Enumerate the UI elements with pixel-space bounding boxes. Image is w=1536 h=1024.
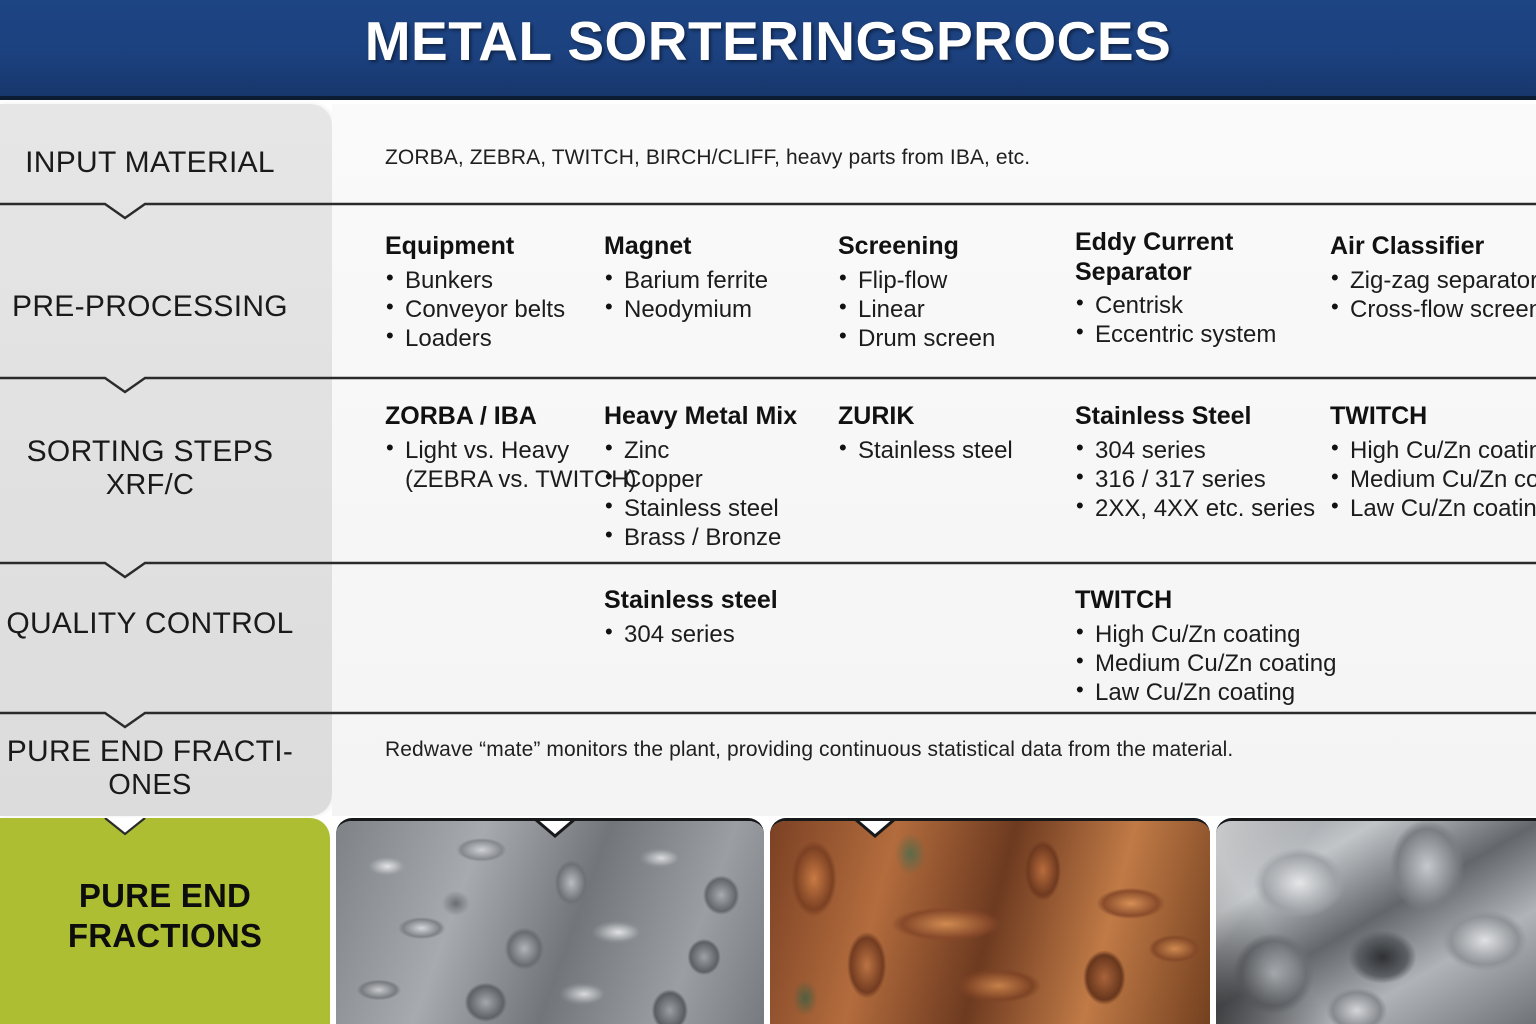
list-item: 304 series: [1075, 436, 1325, 465]
group-bullets: High Cu/Zn coating Medium Cu/Zn coating …: [1330, 436, 1536, 524]
group-title: Eddy Current Separator: [1075, 228, 1275, 287]
list-item: Drum screen: [838, 324, 1070, 353]
list-item: Cross-flow screen: [1330, 295, 1536, 324]
list-item: Neodymium: [604, 295, 832, 324]
label-line-2: FRACTIONS: [68, 917, 262, 954]
group-bullets: High Cu/Zn coating Medium Cu/Zn coating …: [1075, 620, 1355, 708]
group-bullets: Barium ferrite Neodymium: [604, 266, 832, 325]
list-item: High Cu/Zn coating: [1075, 620, 1355, 649]
row-pre-processing: Equipment Bunkers Conveyor belts Loaders…: [332, 232, 1536, 378]
list-item: 304 series: [604, 620, 844, 649]
list-item: Light vs. Heavy: [385, 436, 610, 465]
input-material-text: ZORBA, ZEBRA, TWITCH, BIRCH/CLIFF, heavy…: [385, 146, 1030, 170]
row-quality-control: Stainless steel 304 series TWITCH High C…: [332, 586, 1536, 714]
list-item: Law Cu/Zn coating: [1075, 678, 1355, 707]
list-item: Brass / Bronze: [604, 523, 834, 552]
group-bullets: 304 series 316 / 317 series 2XX, 4XX etc…: [1075, 436, 1325, 524]
list-item: Linear: [838, 295, 1070, 324]
group-air-classifier: Air Classifier Zig-zag separator Cross-f…: [1330, 232, 1536, 324]
stage-label-sorting-steps: SORTING STEPS XRF/C: [0, 435, 300, 502]
group-zorba-iba: ZORBA / IBA Light vs. Heavy (ZEBRA vs. T…: [385, 402, 610, 494]
group-eddy-current-separator: Eddy Current Separator Centrisk Eccentri…: [1075, 228, 1315, 350]
list-item: Bunkers: [385, 266, 600, 295]
group-title: Air Classifier: [1330, 232, 1536, 262]
list-item: Stainless steel: [838, 436, 1070, 465]
group-bullets: Light vs. Heavy (ZEBRA vs. TWITCH): [385, 436, 610, 495]
stage-label-input-material: INPUT MATERIAL: [0, 146, 300, 180]
group-heavy-metal-mix: Heavy Metal Mix Zinc Copper Stainless st…: [604, 402, 834, 553]
stage-label-text: PURE END FRACTI-: [7, 735, 293, 768]
group-title: Screening: [838, 232, 1070, 262]
list-item: Centrisk: [1075, 291, 1315, 320]
group-title: TWITCH: [1075, 586, 1355, 616]
group-title: Stainless steel: [604, 586, 844, 616]
group-title: ZORBA / IBA: [385, 402, 610, 432]
list-item: 2XX, 4XX etc. series: [1075, 494, 1325, 523]
header-bar: METAL SORTERINGSPROCES: [0, 0, 1536, 100]
group-bullets: 304 series: [604, 620, 844, 649]
redwave-mate-text: Redwave “mate” monitors the plant, provi…: [385, 738, 1233, 762]
group-qc-stainless-steel: Stainless steel 304 series: [604, 586, 844, 649]
list-item: Zig-zag separator: [1330, 266, 1536, 295]
stage-label-text: PRE-PROCESSING: [12, 290, 288, 323]
group-bullets: Zig-zag separator Cross-flow screen: [1330, 266, 1536, 325]
stage-label-text: INPUT MATERIAL: [25, 146, 275, 179]
photo-copper-pipe-scrap: [770, 818, 1210, 1024]
list-item: Copper: [604, 465, 834, 494]
list-item: Loaders: [385, 324, 600, 353]
photo-texture: [1216, 821, 1536, 1024]
list-item: Conveyor belts: [385, 295, 600, 324]
list-item: Medium Cu/Zn coating: [1075, 649, 1355, 678]
row-sorting-steps: ZORBA / IBA Light vs. Heavy (ZEBRA vs. T…: [332, 402, 1536, 562]
stage-label-pure-end-fractiones: PURE END FRACTI- ONES: [0, 735, 300, 802]
group-zurik: ZURIK Stainless steel: [838, 402, 1070, 465]
photo-shredded-grey-metal-scrap: [336, 818, 764, 1024]
group-equipment: Equipment Bunkers Conveyor belts Loaders: [385, 232, 600, 353]
list-item: Barium ferrite: [604, 266, 832, 295]
pure-end-fractions-label: PURE END FRACTIONS: [0, 876, 330, 955]
group-title: ZURIK: [838, 402, 1070, 432]
group-title: Equipment: [385, 232, 600, 262]
list-item: High Cu/Zn coating: [1330, 436, 1536, 465]
stage-label-quality-control: QUALITY CONTROL: [0, 607, 300, 641]
list-item: Medium Cu/Zn coating: [1330, 465, 1536, 494]
group-title: TWITCH: [1330, 402, 1536, 432]
group-stainless-steel: Stainless Steel 304 series 316 / 317 ser…: [1075, 402, 1325, 523]
list-item: Eccentric system: [1075, 320, 1315, 349]
photo-texture: [770, 821, 1210, 1024]
stage-label-text: QUALITY CONTROL: [6, 607, 293, 640]
list-item: Zinc: [604, 436, 834, 465]
stage-label-text: SORTING STEPS: [27, 435, 274, 468]
row-pure-end-fractiones: Redwave “mate” monitors the plant, provi…: [332, 716, 1536, 816]
group-bullets: Bunkers Conveyor belts Loaders: [385, 266, 600, 354]
list-item: Flip-flow: [838, 266, 1070, 295]
infographic-page: METAL SORTERINGSPROCES INPUT MATERIAL PR…: [0, 0, 1536, 1024]
group-magnet: Magnet Barium ferrite Neodymium: [604, 232, 832, 324]
group-qc-twitch: TWITCH High Cu/Zn coating Medium Cu/Zn c…: [1075, 586, 1355, 707]
label-line-1: PURE END: [79, 877, 251, 914]
group-title: Heavy Metal Mix: [604, 402, 834, 432]
row-input-material: ZORBA, ZEBRA, TWITCH, BIRCH/CLIFF, heavy…: [332, 104, 1536, 210]
green-box-notch-icon: [0, 818, 330, 848]
group-screening: Screening Flip-flow Linear Drum screen: [838, 232, 1070, 353]
list-item: Stainless steel: [604, 494, 834, 523]
page-title: METAL SORTERINGSPROCES: [0, 14, 1536, 69]
group-title: Stainless Steel: [1075, 402, 1325, 432]
list-item: Law Cu/Zn coating: [1330, 494, 1536, 523]
group-bullets: Zinc Copper Stainless steel Brass / Bron…: [604, 436, 834, 553]
photo-texture: [336, 821, 764, 1024]
pure-end-fractions-box: PURE END FRACTIONS: [0, 818, 330, 1024]
group-twitch: TWITCH High Cu/Zn coating Medium Cu/Zn c…: [1330, 402, 1536, 523]
stage-sublabel-text: ONES: [0, 769, 300, 802]
group-bullets: Stainless steel: [838, 436, 1070, 465]
group-bullets: Flip-flow Linear Drum screen: [838, 266, 1070, 354]
stage-sublabel-text: XRF/C: [0, 469, 300, 502]
group-title: Magnet: [604, 232, 832, 262]
list-item: 316 / 317 series: [1075, 465, 1325, 494]
list-item: (ZEBRA vs. TWITCH): [385, 465, 610, 494]
photo-crumpled-metal-foil-scrap: [1216, 818, 1536, 1024]
group-bullets: Centrisk Eccentric system: [1075, 291, 1315, 350]
stage-label-pre-processing: PRE-PROCESSING: [0, 290, 300, 324]
